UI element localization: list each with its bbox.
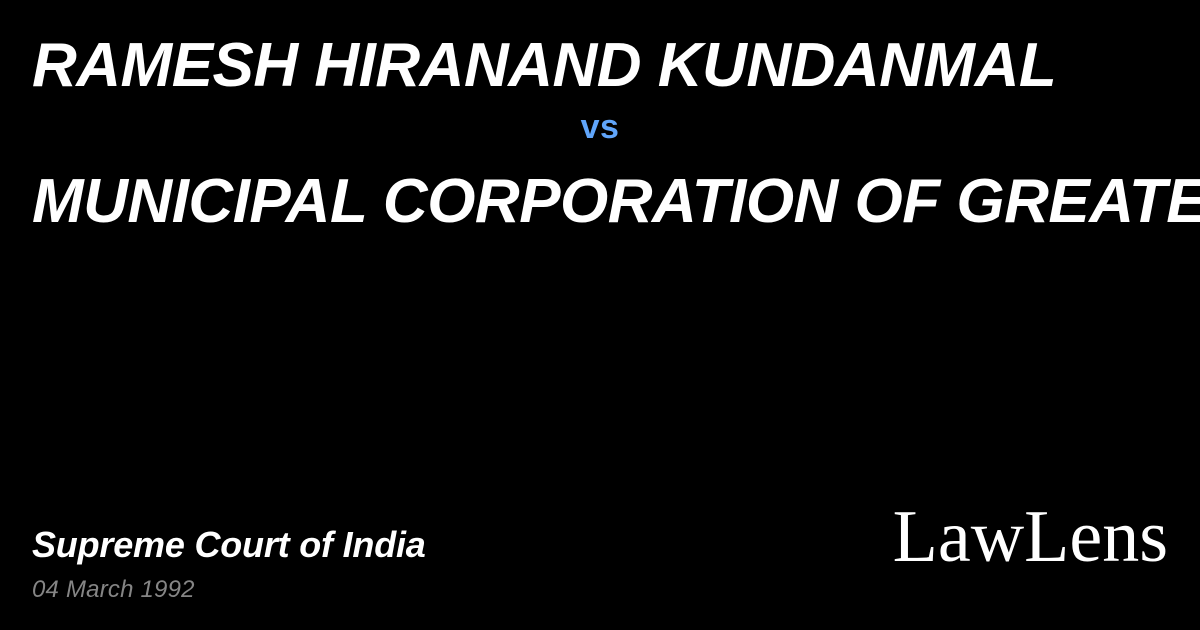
versus-label: vs: [581, 108, 620, 146]
versus-row: vs: [32, 108, 1168, 146]
card-footer: Supreme Court of India 04 March 1992 Law…: [0, 470, 1200, 630]
judgment-share-card: RAMESH HIRANAND KUNDANMAL vs MUNICIPAL C…: [0, 0, 1200, 630]
court-name: Supreme Court of India: [32, 524, 426, 566]
court-meta: Supreme Court of India 04 March 1992: [32, 524, 426, 630]
brand-wordmark: LawLens: [893, 496, 1168, 578]
case-title-block: RAMESH HIRANAND KUNDANMAL vs MUNICIPAL C…: [0, 0, 1200, 238]
respondent-name: MUNICIPAL CORPORATION OF GREATER...: [32, 166, 1168, 238]
petitioner-name: RAMESH HIRANAND KUNDANMAL: [32, 30, 1168, 102]
brand-logo: LawLens: [893, 500, 1168, 630]
judgment-date: 04 March 1992: [32, 576, 195, 604]
